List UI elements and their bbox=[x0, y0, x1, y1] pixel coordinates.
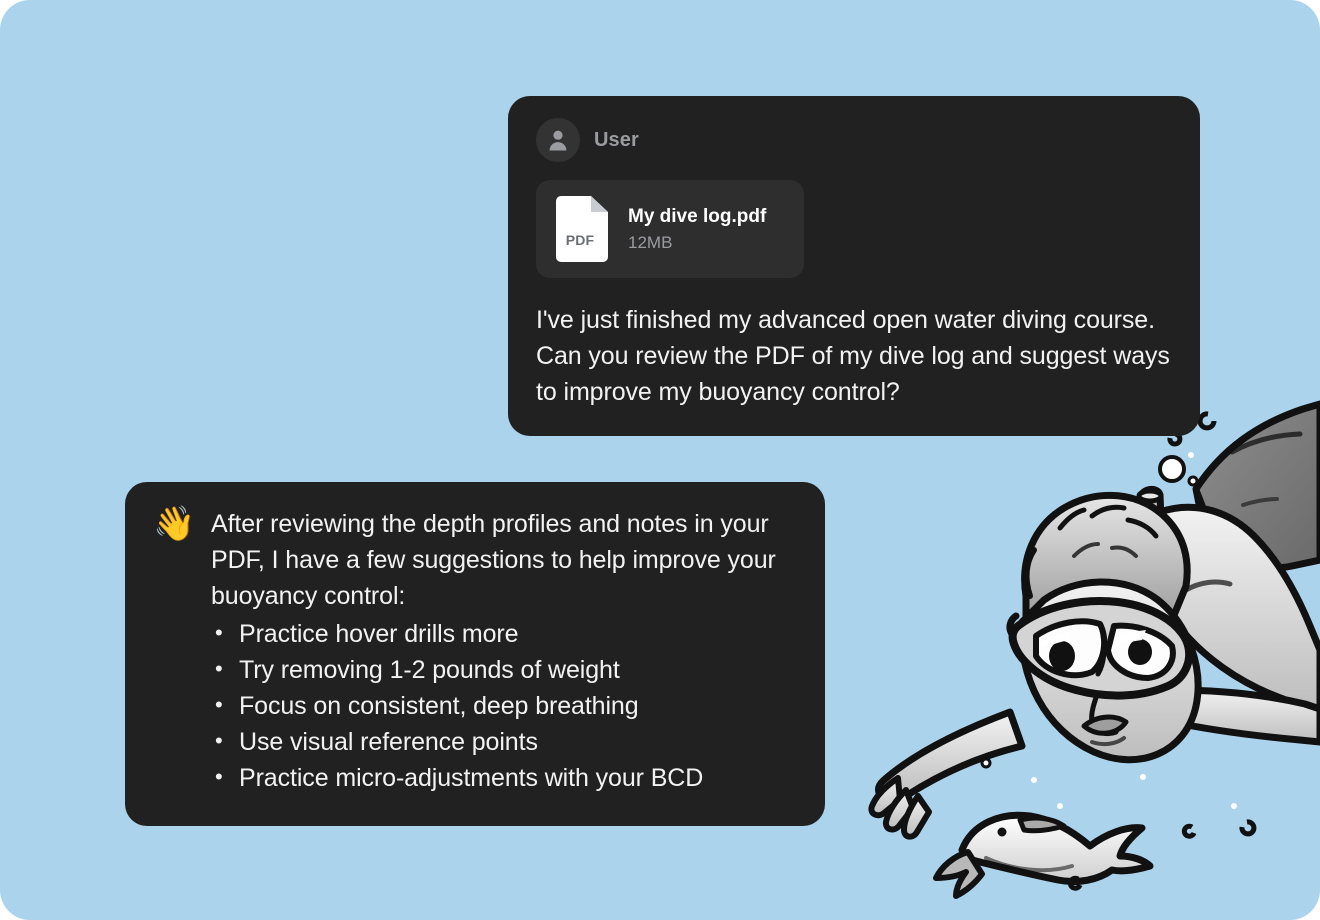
file-attachment-meta: My dive log.pdf 12MB bbox=[628, 206, 766, 253]
snorkel-tube bbox=[1139, 489, 1168, 700]
assistant-intro-row: 👋 After reviewing the depth profiles and… bbox=[153, 506, 797, 614]
list-item: Use visual reference points bbox=[213, 724, 797, 760]
diver-face bbox=[1022, 582, 1198, 760]
user-message-text: I've just finished my advanced open wate… bbox=[536, 302, 1172, 410]
diver-torso bbox=[1152, 507, 1320, 712]
user-avatar-icon bbox=[536, 118, 580, 162]
list-item: Focus on consistent, deep breathing bbox=[213, 688, 797, 724]
fish bbox=[936, 815, 1150, 896]
file-name-label: My dive log.pdf bbox=[628, 206, 766, 228]
assistant-suggestion-list: Practice hover drills more Try removing … bbox=[153, 616, 797, 796]
file-size-label: 12MB bbox=[628, 233, 766, 253]
list-item: Practice micro-adjustments with your BCD bbox=[213, 760, 797, 796]
diver-left-arm bbox=[871, 712, 1022, 837]
diver-right-arm bbox=[1172, 690, 1320, 742]
dive-mask bbox=[1010, 601, 1189, 696]
bubbles bbox=[982, 386, 1254, 888]
user-message-bubble: User PDF My dive log.pdf 12MB I've just … bbox=[508, 96, 1200, 436]
list-item: Try removing 1-2 pounds of weight bbox=[213, 652, 797, 688]
diver-hair bbox=[1025, 495, 1188, 620]
list-item: Practice hover drills more bbox=[213, 616, 797, 652]
user-name-label: User bbox=[594, 129, 639, 152]
assistant-message-bubble: 👋 After reviewing the depth profiles and… bbox=[125, 482, 825, 826]
file-attachment-card[interactable]: PDF My dive log.pdf 12MB bbox=[536, 180, 804, 278]
pdf-icon-label: PDF bbox=[556, 232, 604, 248]
assistant-intro-text: After reviewing the depth profiles and n… bbox=[211, 506, 797, 614]
diver-wetsuit-arm bbox=[1196, 404, 1320, 568]
pdf-file-icon: PDF bbox=[556, 196, 608, 262]
waving-hand-emoji: 👋 bbox=[153, 506, 199, 542]
scene-root: User PDF My dive log.pdf 12MB I've just … bbox=[0, 0, 1320, 920]
user-message-header: User bbox=[536, 118, 1172, 162]
